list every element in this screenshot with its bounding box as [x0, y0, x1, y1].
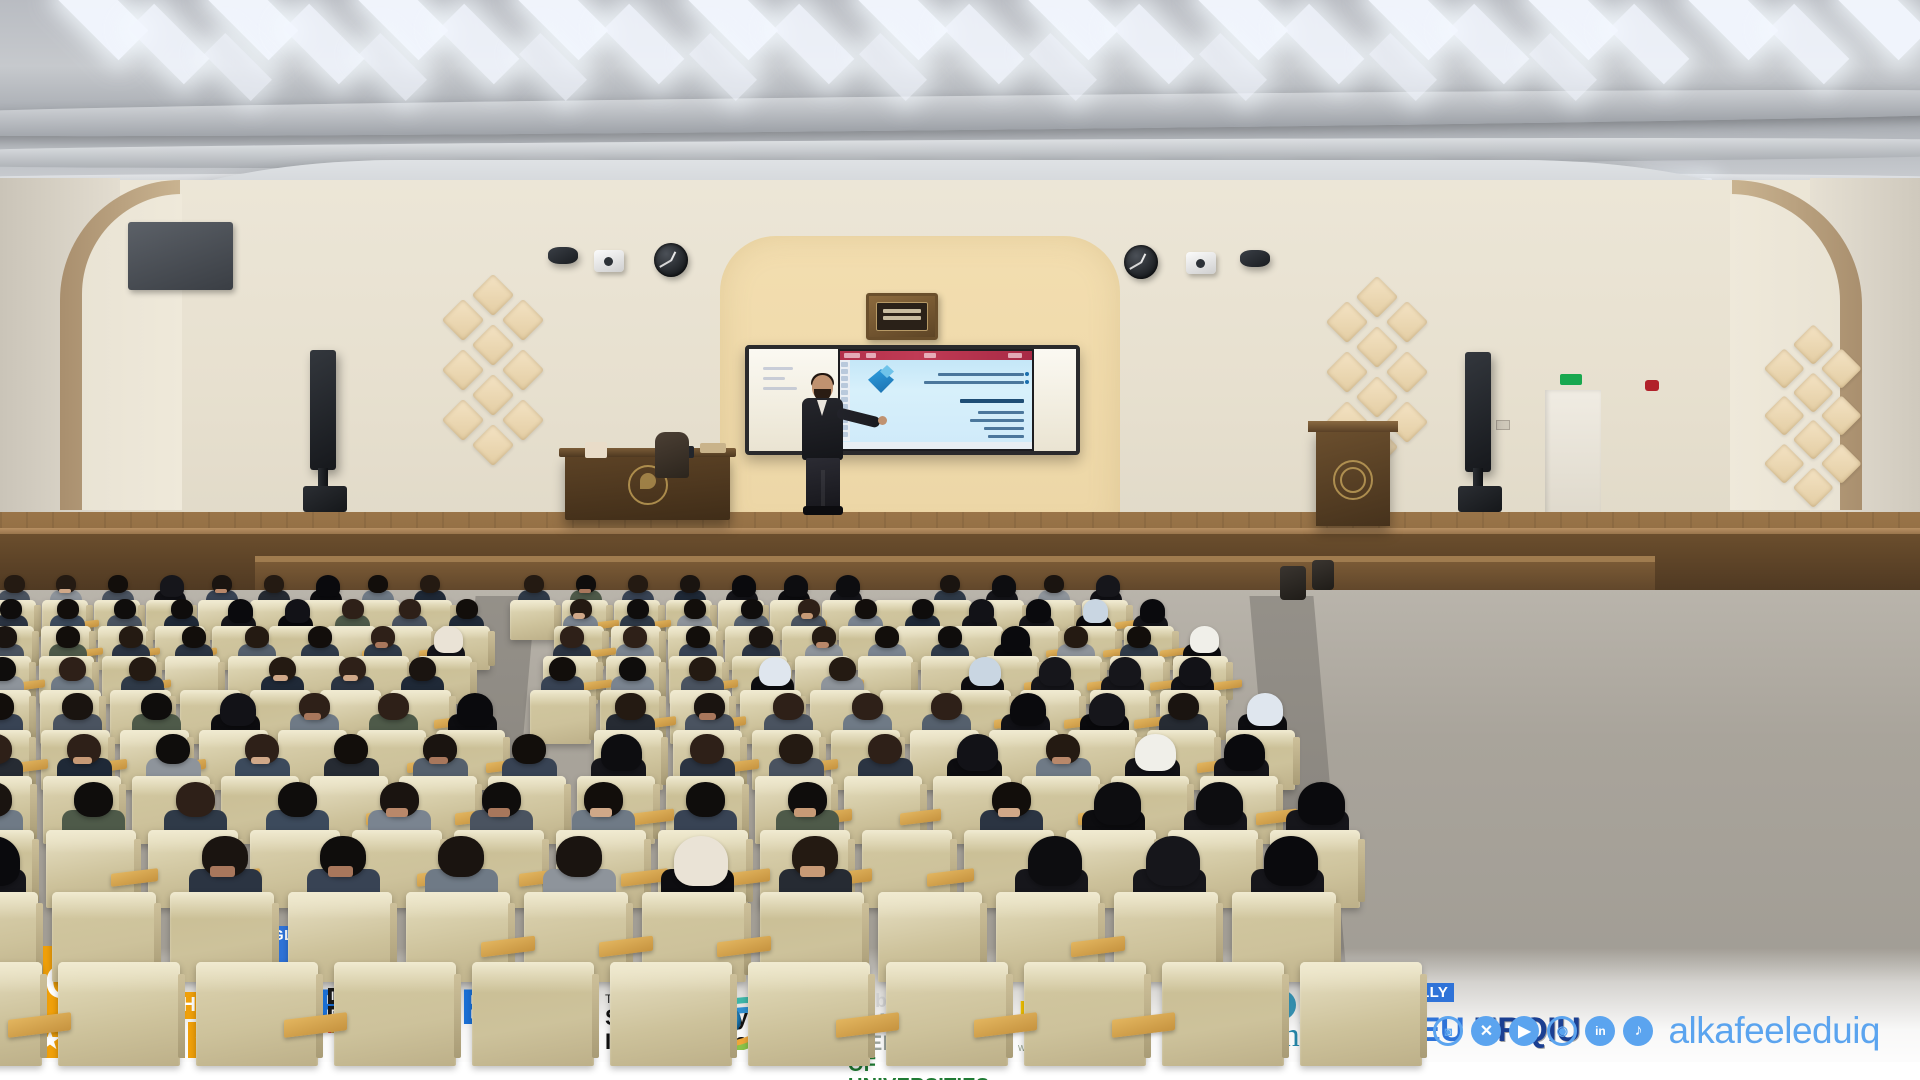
audience-member-head [556, 836, 602, 877]
audience-member-head [940, 575, 960, 593]
seat-side-panel [178, 974, 185, 1057]
lecturer-desk [565, 455, 730, 520]
audience-member-neck [794, 808, 816, 817]
seat-back-highlight [510, 600, 556, 612]
audience-member-hijab [957, 734, 997, 771]
audience-member-hijab [1247, 693, 1283, 726]
audience-member-hijab [1146, 836, 1200, 885]
audience-member-head [334, 734, 368, 765]
slide-bullet-dot [1025, 380, 1029, 384]
wall-clock-left [654, 243, 688, 277]
seat-back-highlight [165, 656, 220, 670]
auditorium-seat[interactable] [1024, 962, 1146, 1066]
loose-chair [1280, 566, 1306, 600]
slide-text-line [978, 411, 1024, 414]
audience-member-hijab [220, 693, 256, 726]
seat-back-highlight [406, 892, 510, 919]
audience-member-head [680, 575, 700, 593]
audience-member-head [409, 657, 436, 681]
seat-back-highlight [610, 962, 732, 993]
audience-member-head [456, 599, 478, 619]
audience-member-head [524, 575, 544, 593]
audience-member-head [686, 626, 710, 648]
auditorium-seat[interactable] [1300, 962, 1422, 1066]
seat-back-highlight [886, 962, 1008, 993]
seat-side-panel [1282, 974, 1289, 1057]
doorway [1545, 390, 1601, 530]
seat-side-panel [1420, 974, 1427, 1057]
audience-member-head [108, 575, 128, 593]
audience-member-head [0, 626, 17, 648]
audience-member-head [0, 599, 22, 619]
audience-member-neck [699, 713, 716, 720]
seat-back-highlight [1162, 962, 1284, 993]
audience-member-neck [801, 613, 813, 618]
podium [1316, 430, 1390, 526]
seat-back-highlight [862, 830, 952, 853]
audience-member-hijab [457, 693, 493, 726]
audience-member-hijab [992, 575, 1016, 597]
audience-member-hijab [1089, 693, 1125, 726]
audience-member-hijab [969, 657, 1001, 687]
seat-side-panel [454, 974, 461, 1057]
audience-member-head [855, 599, 877, 619]
desk-papers [585, 442, 607, 458]
seat-back-highlight [524, 892, 628, 919]
seat-back-highlight [472, 962, 594, 993]
speaker-tower-left [310, 350, 336, 470]
projector-left [594, 250, 624, 272]
slide-header-bar [840, 351, 1032, 360]
audience-member-head [1168, 693, 1198, 720]
seat-back-highlight [1300, 962, 1422, 993]
audience-member-neck [579, 589, 590, 594]
auditorium-seat[interactable] [510, 600, 556, 640]
speaker-tower-right [1465, 352, 1491, 472]
audience-member-head [779, 734, 813, 765]
audience-member-head [1127, 626, 1151, 648]
audience-member-head [182, 626, 206, 648]
audience-member-hijab [1026, 599, 1052, 623]
audience-member-hijab [784, 575, 808, 597]
slide-bullet-dot [1025, 372, 1029, 376]
audience-member-neck [488, 808, 510, 817]
audience-member-head [852, 693, 882, 720]
audience-member-head [512, 734, 546, 765]
presentation-screen[interactable] [838, 349, 1034, 451]
audience-member-neck [816, 642, 829, 648]
desk-box [700, 443, 726, 453]
wall-socket [1496, 420, 1510, 430]
audience-member-neck [215, 589, 226, 594]
seat-back-highlight [334, 962, 456, 993]
audience-member-head [689, 657, 716, 681]
audience-member-hijab [1179, 657, 1211, 687]
audience-member-hijab [759, 657, 791, 687]
seat-back-highlight [858, 656, 913, 670]
audience-member-hijab [1083, 599, 1109, 623]
audience-member-hijab [1096, 575, 1120, 597]
audience-member-head [438, 836, 484, 877]
dribbble-icon[interactable]: ◉ [1547, 1016, 1577, 1046]
seat-side-panel [592, 974, 599, 1057]
seat-back-highlight [1114, 892, 1218, 919]
podium-emblem-icon [1333, 460, 1373, 500]
audience-member-head [62, 693, 92, 720]
audience-member-head [619, 657, 646, 681]
slide-status-bar [840, 442, 1032, 449]
tiktok-icon[interactable]: ♪ [1623, 1016, 1653, 1046]
wall-speaker-left [548, 247, 578, 264]
seat-back-highlight [0, 962, 42, 993]
audience-member-head [342, 599, 364, 619]
audience-member-hijab [1094, 782, 1141, 825]
audience-member-hijab [1298, 782, 1345, 825]
seat-back-highlight [530, 690, 591, 706]
instagram-icon[interactable]: ◙ [1433, 1016, 1463, 1046]
audience-member-head [378, 693, 408, 720]
audience-member-neck [590, 808, 612, 817]
audience-member-neck [210, 866, 235, 877]
seat-back-highlight [46, 830, 136, 853]
seat-back-highlight [0, 892, 38, 919]
audience-member-neck [429, 757, 448, 765]
audience-member-neck [573, 613, 585, 618]
seat-back-highlight [52, 892, 156, 919]
slide-text-line [988, 435, 1024, 438]
audience-member-head [741, 599, 763, 619]
audience-member-neck [1052, 757, 1071, 765]
audience-member-neck [343, 675, 358, 681]
audience-member-hijab [228, 599, 254, 623]
audience-member-neck [251, 757, 270, 765]
audience-member-head [156, 734, 190, 765]
audience-member-head [684, 599, 706, 619]
slide-text-line [970, 419, 1024, 422]
audience-member-neck [800, 866, 825, 877]
audience-member-head [4, 575, 24, 593]
audience-member-head [57, 599, 79, 619]
auditorium-seat[interactable] [196, 962, 318, 1066]
x-twitter-icon[interactable]: ✕ [1471, 1016, 1501, 1046]
presenter-trousers [806, 458, 840, 508]
audience-member-head [628, 575, 648, 593]
audience-member-head [690, 734, 724, 765]
audience-member-hijab [1001, 626, 1030, 652]
seat-back-highlight [288, 892, 392, 919]
slide-text-line [984, 427, 1024, 430]
seat-side-panel [1293, 737, 1300, 785]
audience-member-hijab [1196, 782, 1243, 825]
seat-back-highlight [642, 892, 746, 919]
audience-member-hijab [969, 599, 995, 623]
audience-member-head [114, 599, 136, 619]
audience-member-hijab [674, 836, 728, 885]
audience-member-head [829, 657, 856, 681]
audience-member-neck [304, 713, 321, 720]
audience-member-head [938, 626, 962, 648]
audience-member-hijab [316, 575, 340, 597]
audience-member-head [74, 782, 114, 817]
audience-member-hijab [1109, 657, 1141, 687]
wall-clock-right [1124, 245, 1158, 279]
audience-member-neck [73, 757, 92, 765]
audience-member-head [686, 782, 726, 817]
projector-right [1186, 252, 1216, 274]
audience-member-head [420, 575, 440, 593]
audience-member-hijab [1010, 693, 1046, 726]
audience-member-hijab [160, 575, 184, 597]
presenter-hand [878, 416, 887, 425]
audience-member-head [1064, 626, 1088, 648]
slide-text-line [924, 381, 1024, 384]
slide-text-line [938, 373, 1024, 376]
audience-member-head [627, 599, 649, 619]
lecture-hall-photo: QS TEACHING ★★★★★ GLOBALLY THE IMPACT RA… [0, 0, 1920, 1080]
audience-member-neck [328, 866, 353, 877]
auditorium-seat[interactable] [0, 962, 42, 1066]
audience-member-head [615, 693, 645, 720]
seat-back-highlight [748, 962, 870, 993]
audience-member-head [773, 693, 803, 720]
audience-member-head [368, 575, 388, 593]
audience-member-head [129, 657, 156, 681]
seat-back-highlight [844, 776, 922, 796]
lecturer-chair [655, 432, 689, 478]
audience-member-neck [375, 642, 388, 648]
audience-member-neck [998, 808, 1020, 817]
seat-back-highlight [878, 892, 982, 919]
audience-member-hijab [1039, 657, 1071, 687]
seat-side-panel [730, 974, 737, 1057]
ceiling-beam-1 [0, 86, 1920, 141]
presenter [790, 375, 856, 520]
youtube-icon[interactable]: ▶ [1509, 1016, 1539, 1046]
seat-back-highlight [1232, 892, 1336, 919]
podium-top-surface [1308, 421, 1398, 432]
auditorium-seat[interactable] [748, 962, 870, 1066]
wall-speaker-right [1240, 250, 1270, 267]
audience-member-hijab [1135, 734, 1175, 771]
audience-member-neck [273, 675, 288, 681]
slide-text-line [960, 399, 1024, 403]
speaker-base-left [303, 486, 347, 512]
audience-member-head [308, 626, 332, 648]
seat-back-highlight [760, 892, 864, 919]
seat-back-highlight [170, 892, 274, 919]
audience-member-head [278, 782, 318, 817]
audience-member-hijab [434, 626, 463, 652]
seat-side-panel [1358, 839, 1365, 901]
audience-member-head [931, 693, 961, 720]
linkedin-icon[interactable]: in [1585, 1016, 1615, 1046]
audience-member-head [549, 657, 576, 681]
audience-member-hijab [601, 734, 641, 771]
audience-member-head [59, 657, 86, 681]
seat-back-highlight [996, 892, 1100, 919]
audience-member-head [912, 599, 934, 619]
audience-member-hijab [732, 575, 756, 597]
audience-member-head [399, 599, 421, 619]
audience-member-head [171, 599, 193, 619]
seat-back-highlight [58, 962, 180, 993]
presenter-shoes [803, 506, 843, 515]
audience-member-hijab [1028, 836, 1082, 885]
audience-member-head [868, 734, 902, 765]
audience-member-head [623, 626, 647, 648]
social-icon-row[interactable]: f◙✕▶◉in♪ [1395, 1016, 1653, 1046]
auditorium-seat[interactable] [472, 962, 594, 1066]
audience-member-hijab [836, 575, 860, 597]
audience-member-head [875, 626, 899, 648]
social-handle: alkafeeleduiq [1668, 1010, 1880, 1052]
audience-member-head [141, 693, 171, 720]
auditorium-seat[interactable] [886, 962, 1008, 1066]
audience-member-hijab [1264, 836, 1318, 885]
audience-member-neck [59, 589, 70, 594]
seat-side-panel [488, 631, 495, 666]
audience-member-head [560, 626, 584, 648]
seat-back-highlight [196, 962, 318, 993]
plaque-calligraphy [883, 309, 921, 323]
board-marks-1 [763, 367, 793, 370]
auditorium-seat[interactable] [58, 962, 180, 1066]
audience-member-head [749, 626, 773, 648]
seat-back-highlight [1024, 962, 1146, 993]
auditorium-seat[interactable] [1162, 962, 1284, 1066]
audience-member-head [176, 782, 216, 817]
fire-alarm-icon [1645, 380, 1659, 391]
audience-member-hijab [285, 599, 311, 623]
audience-member-head [264, 575, 284, 593]
auditorium-seat[interactable] [610, 962, 732, 1066]
exit-sign-icon [1560, 374, 1582, 385]
audience-member-head [56, 626, 80, 648]
loose-chair [1312, 560, 1334, 590]
audience-member-hijab [1224, 734, 1264, 771]
audience-member-neck [386, 808, 408, 817]
audience-member-hijab [1190, 626, 1219, 652]
audience-member-head [1044, 575, 1064, 593]
board-marks-2 [763, 377, 785, 380]
auditorium-seat[interactable] [334, 962, 456, 1066]
side-monitor [128, 222, 233, 290]
wall-plaque [866, 293, 938, 340]
audience-member-head [0, 657, 16, 681]
audience-member-head [119, 626, 143, 648]
speaker-base-right [1458, 486, 1502, 512]
audience-member-head [245, 626, 269, 648]
social-media-group: f◙✕▶◉in♪ alkafeeleduiq [1395, 1010, 1880, 1052]
audience-member-hijab [1140, 599, 1166, 623]
